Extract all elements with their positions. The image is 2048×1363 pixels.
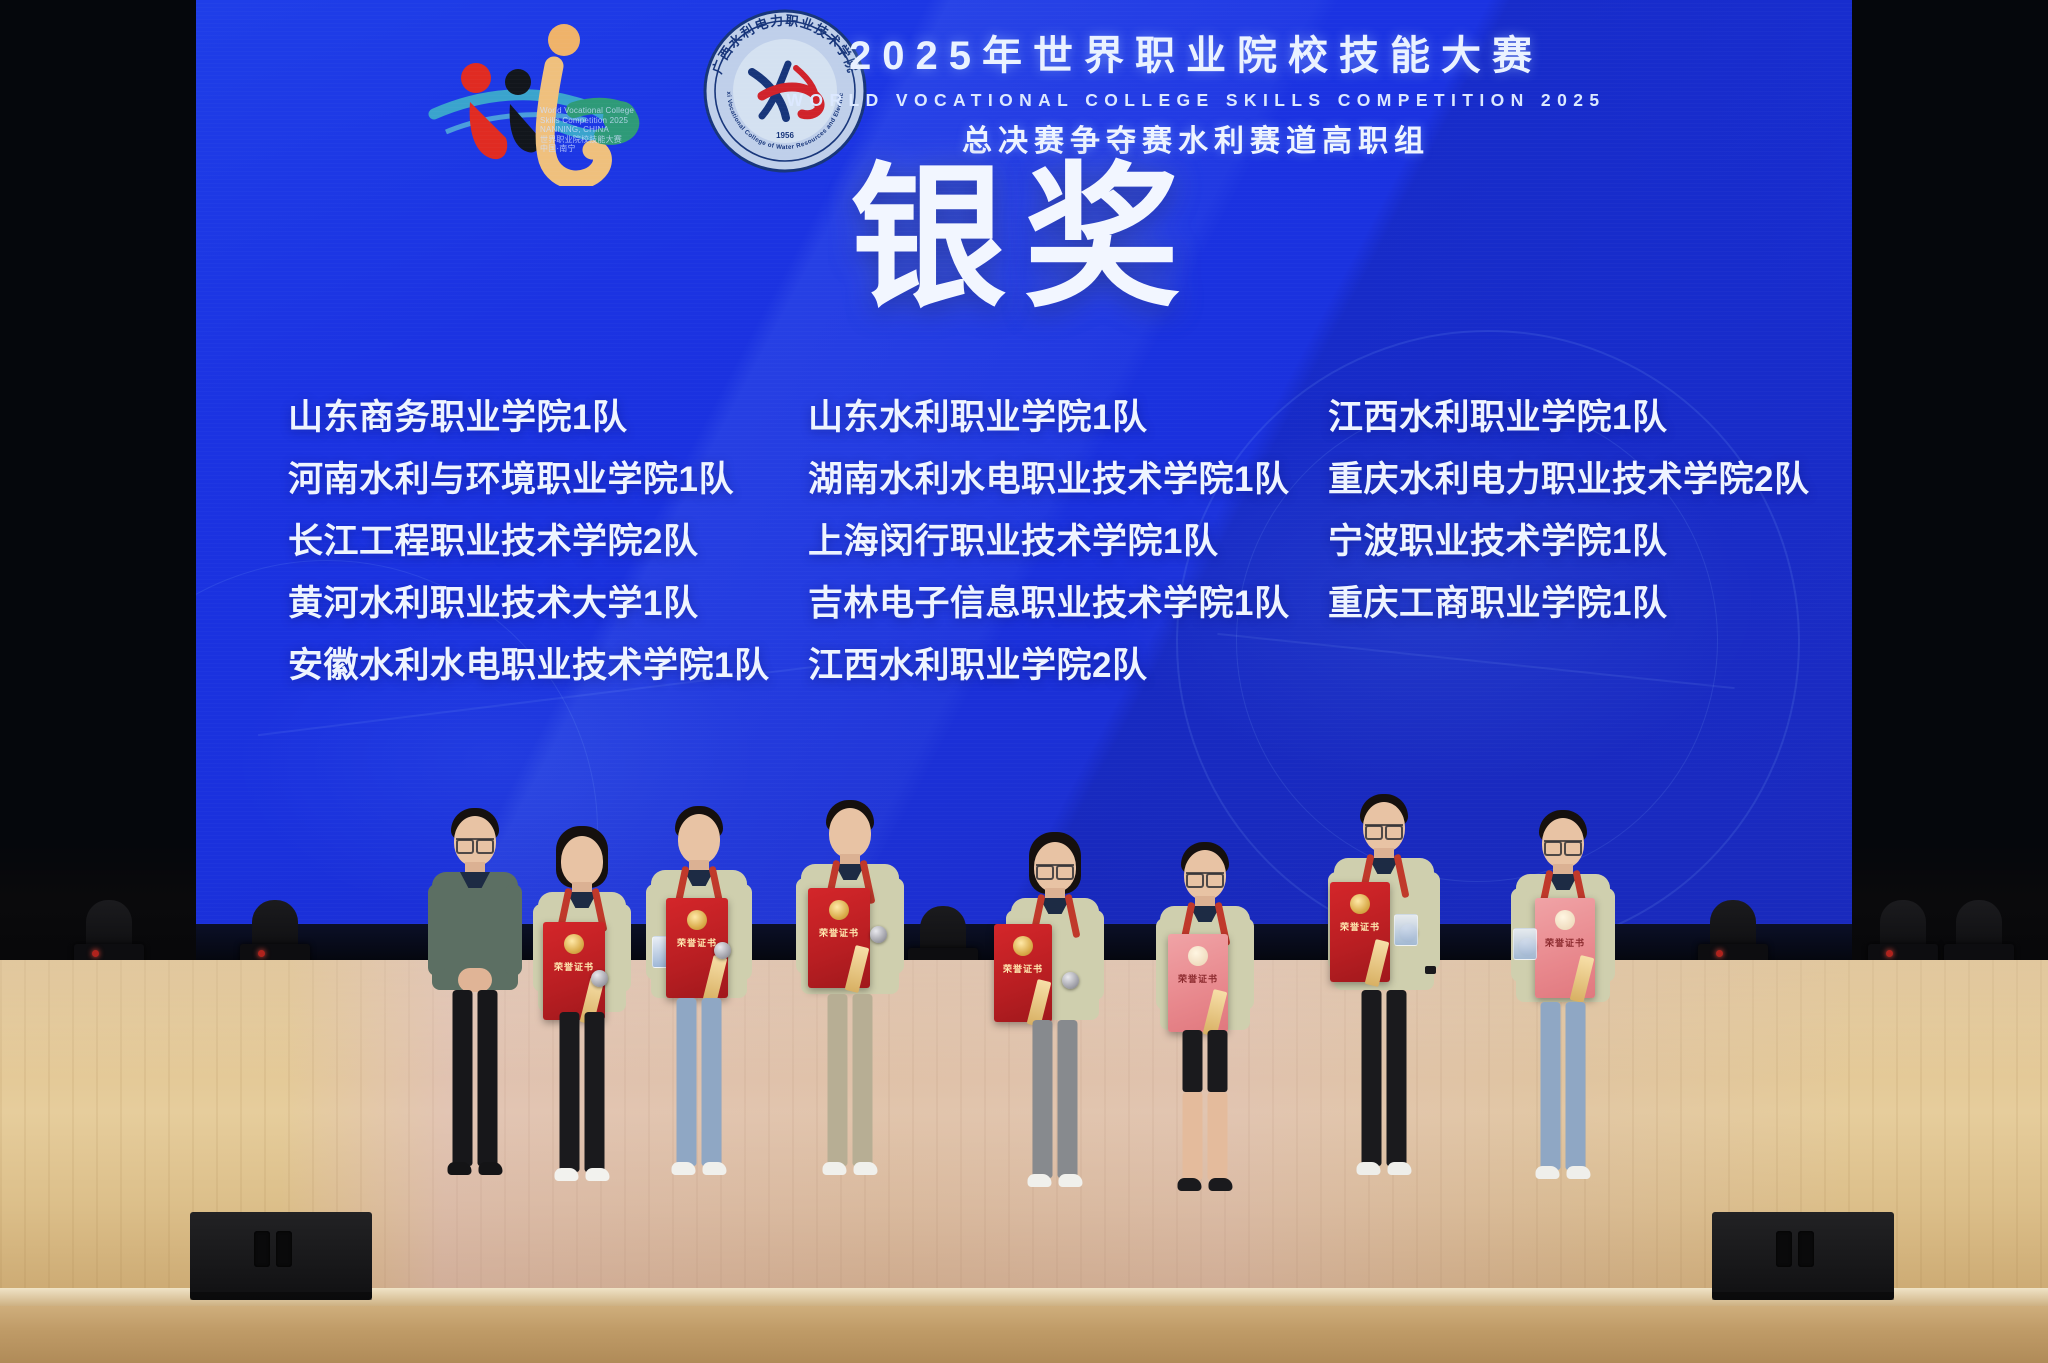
legs [1033,1020,1078,1178]
light-indicator-led [92,950,99,957]
winners-list: 山东商务职业学院1队 河南水利与环境职业学院1队 长江工程职业技术学院2队 黄河… [288,400,1788,710]
certificate-ribbon [1365,939,1390,987]
honor-certificate: 荣誉证书 [1535,898,1595,998]
leg-left [677,998,697,1166]
certificate-emblem-icon [1350,894,1370,914]
ict-logo-subtext: World Vocational College Skills Competit… [540,106,660,154]
shoes [1028,1174,1083,1187]
arm-right [1087,910,1104,1000]
legs [1541,1002,1586,1170]
arm-right [1598,888,1615,982]
winner-entry: 河南水利与环境职业学院1队 [288,462,808,524]
silver-medal [714,942,731,959]
head [454,816,496,866]
leg-left [828,994,848,1166]
calf-right [1208,1092,1228,1180]
light-indicator-led [258,950,265,957]
silver-medal [1062,972,1079,989]
shoe-left [448,1162,472,1175]
lower-legs [1183,1092,1228,1180]
legs [677,998,722,1166]
winners-column-2: 山东水利职业学院1队 湖南水利水电职业技术学院1队 上海闵行职业技术学院1队 吉… [808,400,1328,710]
head [678,814,720,864]
shoe-right [1209,1178,1233,1191]
certificate-emblem-icon [1188,946,1208,966]
shoe-right [1059,1174,1083,1187]
leg-right [1566,1002,1586,1170]
certificate-ribbon [1570,955,1595,1003]
winner-entry: 重庆水利电力职业技术学院2队 [1328,462,1788,524]
honor-certificate: 荣誉证书 [1330,882,1390,982]
person-award-recipient: 荣誉证书 [1150,842,1260,1210]
person-award-recipient: 荣誉证书 [527,826,637,1206]
arm-right [1237,918,1254,1010]
certificate-emblem-icon [1555,910,1575,930]
shoe-left [1178,1178,1202,1191]
winner-entry: 长江工程职业技术学院2队 [288,524,808,586]
legs [1183,1030,1228,1092]
leg-right [1387,990,1407,1166]
id-badge [1513,928,1537,960]
leg-left [1362,990,1382,1166]
shoe-right [854,1162,878,1175]
stage-front-panel [0,1306,2048,1363]
shoe-left [823,1162,847,1175]
speaker-port [254,1231,270,1267]
honor-certificate: 荣誉证书 [808,888,870,988]
leg-right [585,1012,605,1172]
shoes [1357,1162,1412,1175]
legs [560,1012,605,1172]
silver-medal [591,970,608,987]
legs [828,994,873,1166]
id-badge [1394,914,1418,946]
winner-entry: 黄河水利职业技术大学1队 [288,586,808,648]
shoe-right [586,1168,610,1181]
calf-left [1183,1092,1203,1180]
winner-entry: 上海闵行职业技术学院1队 [808,524,1328,586]
winner-entry: 山东水利职业学院1队 [808,400,1328,462]
leg-left [453,990,473,1166]
speaker-port [1776,1231,1792,1267]
certificate-emblem-icon [829,900,849,920]
leg-right [702,998,722,1166]
head [1184,850,1226,900]
clasped-hands [458,968,492,992]
head [829,808,871,858]
arm-right [735,884,752,980]
shorts-leg-left [1183,1030,1203,1092]
person-award-recipient: 荣誉证书 [1505,810,1621,1208]
honor-certificate: 荣誉证书 [1168,934,1228,1032]
shoe-left [1028,1174,1052,1187]
winner-entry: 湖南水利水电职业技术学院1队 [808,462,1328,524]
winner-entry: 宁波职业技术学院1队 [1328,524,1788,586]
led-backdrop-screen: World Vocational College Skills Competit… [196,0,1852,940]
person-award-recipient: 荣誉证书 [1000,832,1110,1208]
shoe-left [555,1168,579,1181]
legs [1362,990,1407,1166]
speaker-port [276,1231,292,1267]
shoes [448,1162,503,1175]
person-staff-presenter [420,808,530,1200]
person-award-recipient: 荣誉证书 [790,800,910,1206]
leg-right [853,994,873,1166]
event-title-cn: 2025年世界职业院校技能大赛 [736,36,1656,76]
arm-right [887,878,904,974]
winner-entry: 重庆工商职业学院1队 [1328,586,1788,648]
arm-right [1423,872,1440,970]
shoe-right [1388,1162,1412,1175]
shoe-left [672,1162,696,1175]
leg-right [1058,1020,1078,1178]
leg-left [1033,1020,1053,1178]
certificate-label: 荣誉证书 [1340,920,1380,933]
shorts-leg-right [1208,1030,1228,1092]
wristwatch [1425,966,1436,974]
shoe-right [479,1162,503,1175]
shoes [555,1168,610,1181]
speaker-port [1798,1231,1814,1267]
event-title-en: WORLD VOCATIONAL COLLEGE SKILLS COMPETIT… [736,92,1656,110]
shoe-right [703,1162,727,1175]
shoes [1178,1178,1233,1191]
person-award-recipient: 荣誉证书 [1322,794,1446,1206]
certificate-emblem-icon [564,934,584,954]
leg-left [560,1012,580,1172]
shoe-left [1357,1162,1381,1175]
certificate-label: 荣誉证书 [554,960,594,973]
light-indicator-led [1716,950,1723,957]
leg-left [1541,1002,1561,1170]
leg-right [478,990,498,1166]
honor-certificate: 荣誉证书 [994,924,1052,1022]
light-indicator-led [1886,950,1893,957]
certificate-label: 荣誉证书 [677,936,717,949]
shoe-right [1567,1166,1591,1179]
certificate-label: 荣誉证书 [1545,936,1585,949]
shoes [672,1162,727,1175]
arm-left [428,884,445,976]
award-title: 银奖 [196,158,1852,322]
certificate-ribbon [845,945,870,993]
head [561,836,603,886]
arm-right [614,904,631,992]
certificate-label: 荣誉证书 [1178,972,1218,985]
certificate-label: 荣誉证书 [1003,962,1043,975]
shoes [1536,1166,1591,1179]
head [1034,842,1076,892]
head [1363,802,1405,852]
certificate-label: 荣誉证书 [819,926,859,939]
winners-column-3: 江西水利职业学院1队 重庆水利电力职业技术学院2队 宁波职业技术学院1队 重庆工… [1328,400,1788,710]
head [1542,818,1584,868]
certificate-ribbon [703,955,728,1003]
silver-medal [870,926,887,943]
winner-entry: 江西水利职业学院1队 [1328,400,1788,462]
shoes [823,1162,878,1175]
winners-column-1: 山东商务职业学院1队 河南水利与环境职业学院1队 长江工程职业技术学院2队 黄河… [288,400,808,710]
person-award-recipient: 荣誉证书 [640,806,758,1206]
winner-entry: 山东商务职业学院1队 [288,400,808,462]
legs [453,990,498,1166]
winner-entry: 江西水利职业学院2队 [808,648,1328,710]
floor-monitor-speaker [1712,1212,1894,1300]
certificate-emblem-icon [1013,936,1033,956]
arm-right [505,884,522,976]
stage-award-ceremony-photo: World Vocational College Skills Competit… [0,0,2048,1363]
certificate-emblem-icon [687,910,707,930]
shoe-left [1536,1166,1560,1179]
winner-entry: 吉林电子信息职业技术学院1队 [808,586,1328,648]
floor-monitor-speaker [190,1212,372,1300]
winner-entry: 安徽水利水电职业技术学院1队 [288,648,808,710]
event-header: 2025年世界职业院校技能大赛 WORLD VOCATIONAL COLLEGE… [736,0,1656,157]
